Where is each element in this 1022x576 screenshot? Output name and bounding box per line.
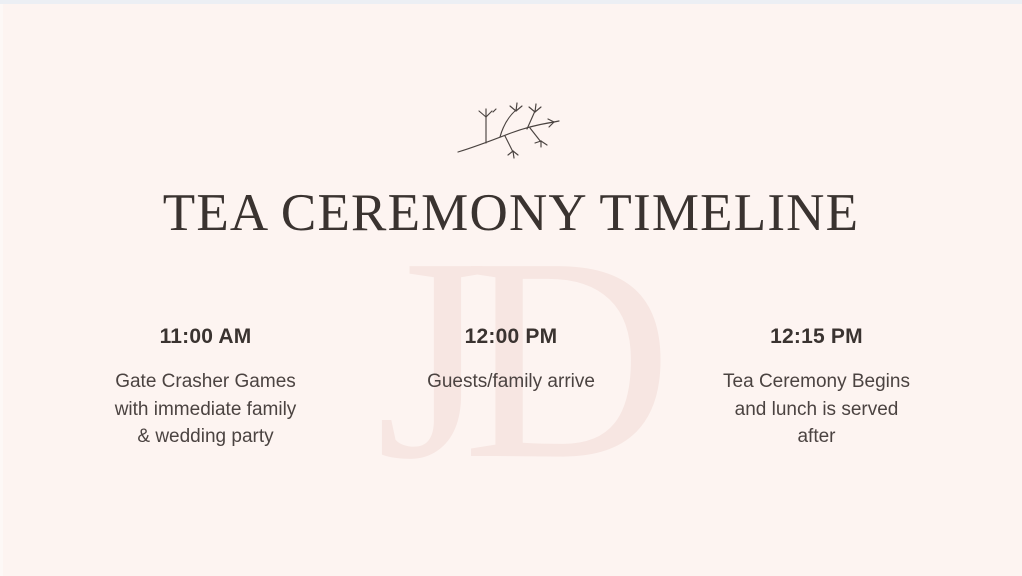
event-time: 12:15 PM [664,326,969,347]
botanical-branch-icon [455,100,567,162]
event-description: Gate Crasher Games with immediate family… [53,368,358,451]
event-description: Guests/family arrive [359,368,664,396]
timeline-event-3: 12:15 PM Tea Ceremony Begins and lunch i… [664,326,969,451]
left-edge-sliver [0,4,3,576]
event-time: 12:00 PM [359,326,664,347]
event-description-line: with immediate family [115,399,297,420]
event-description-line: after [797,426,835,447]
top-edge-band [0,0,1022,4]
event-time: 11:00 AM [53,326,358,347]
event-description-line: Tea Ceremony Begins [723,371,910,392]
timeline-row: 11:00 AM Gate Crasher Games with immedia… [53,326,969,451]
event-description-line: & wedding party [137,426,273,447]
event-description: Tea Ceremony Begins and lunch is served … [664,368,969,451]
timeline-event-1: 11:00 AM Gate Crasher Games with immedia… [53,326,358,451]
timeline-event-2: 12:00 PM Guests/family arrive [359,326,664,396]
event-description-line: Guests/family arrive [427,371,595,392]
slide-canvas: JD [0,0,1022,576]
page-title: TEA CEREMONY TIMELINE [0,185,1022,242]
event-description-line: Gate Crasher Games [115,371,296,392]
event-description-line: and lunch is served [735,399,899,420]
branch-ornament [0,100,1022,162]
slide-content: TEA CEREMONY TIMELINE 11:00 AM Gate Cras… [0,0,1022,576]
